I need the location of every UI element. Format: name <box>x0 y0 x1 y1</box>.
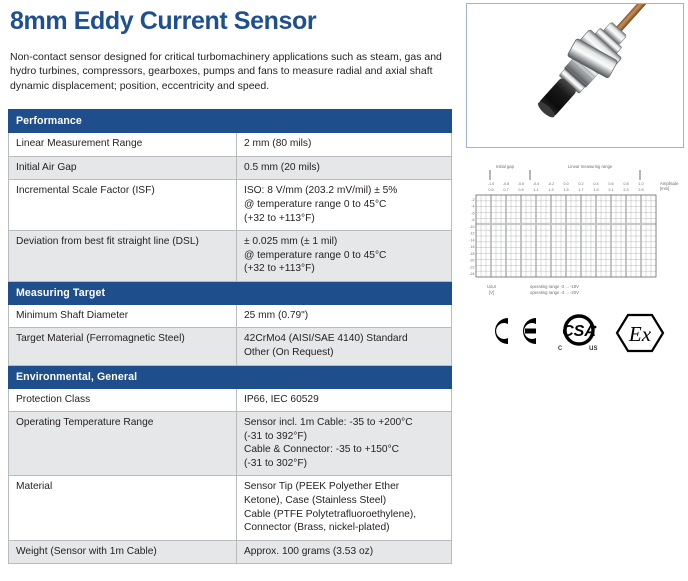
chart-label-linear-range: Linear measuring range <box>568 164 613 169</box>
chart-xtick-upper: -0.4 <box>533 182 540 186</box>
spec-value-cell: Sensor Tip (PEEK Polyether EtherKetone),… <box>237 476 452 540</box>
chart-annotation-0: operating range -2 ... -18V <box>530 284 579 289</box>
chart-xtick-lower: 0.7 <box>503 188 508 192</box>
chart-xtick-lower: 0.9 <box>518 188 523 192</box>
chart-xtick-lower: 2.5 <box>638 188 643 192</box>
table-row: Target Material (Ferromagnetic Steel)42C… <box>9 328 452 365</box>
chart-ytick: -24 <box>469 272 474 276</box>
chart-ytick: -20 <box>469 259 474 263</box>
spec-value-line: (-31 to 392°F) <box>244 430 444 444</box>
chart-xtick-lower: 1.9 <box>593 188 598 192</box>
spec-section-header: Measuring Target <box>9 281 452 304</box>
chart-xtick-lower: 1.7 <box>578 188 583 192</box>
spec-label-cell: Material <box>9 476 237 540</box>
characteristic-curve-chart: Initial gap Linear measuring range Ampli… <box>468 158 686 308</box>
spec-table-body: PerformanceLinear Measurement Range2 mm … <box>9 110 452 564</box>
chart-label-initial-gap: Initial gap <box>496 164 515 169</box>
spec-label-cell: Linear Measurement Range <box>9 133 237 157</box>
chart-annotation-1: operating range -4 ... -20V <box>530 290 579 295</box>
spec-value-line: IP66, IEC 60529 <box>244 393 444 407</box>
certification-marks: CSA c us Ex <box>480 312 680 360</box>
spec-value-line: (+32 to +113°F) <box>244 212 444 226</box>
spec-value-cell: 42CrMo4 (AISI/SAE 4140) StandardOther (O… <box>237 328 452 365</box>
spec-value-cell: 0.5 mm (20 mils) <box>237 156 452 180</box>
spec-value-line: Connector (Brass, nickel-plated) <box>244 521 444 535</box>
chart-xtick-upper: -0.8 <box>503 182 510 186</box>
svg-text:Ex: Ex <box>628 322 652 346</box>
specifications-table: PerformanceLinear Measurement Range2 mm … <box>8 109 452 564</box>
table-row: Deviation from best fit straight line (D… <box>9 231 452 282</box>
chart-xtick-upper: 0.6 <box>608 182 613 186</box>
spec-value-line: Other (On Request) <box>244 346 444 360</box>
spec-value-line: (-31 to 302°F) <box>244 457 444 471</box>
right-media-column: Initial gap Linear measuring range Ampli… <box>466 0 688 581</box>
intro-paragraph: Non-contact sensor designed for critical… <box>10 50 446 95</box>
chart-ytick: -16 <box>469 245 474 249</box>
spec-label-cell: Incremental Scale Factor (ISF) <box>9 180 237 231</box>
chart-xtick-lower: 2.3 <box>623 188 628 192</box>
spec-value-line: Sensor Tip (PEEK Polyether Ether <box>244 480 444 494</box>
chart-xtick-upper: -0.6 <box>518 182 525 186</box>
spec-value-line: 2 mm (80 mils) <box>244 137 444 151</box>
table-row: MaterialSensor Tip (PEEK Polyether Ether… <box>9 476 452 540</box>
table-row: Incremental Scale Factor (ISF)ISO: 8 V/m… <box>9 180 452 231</box>
spec-label-cell: Target Material (Ferromagnetic Steel) <box>9 328 237 365</box>
spec-value-line: 42CrMo4 (AISI/SAE 4140) Standard <box>244 332 444 346</box>
spec-value-line: ISO: 8 V/mm (203.2 mV/mil) ± 5% <box>244 184 444 198</box>
spec-value-line: 0.5 mm (20 mils) <box>244 161 444 175</box>
svg-text:c: c <box>558 343 562 352</box>
spec-value-cell: 25 mm (0.79") <box>237 304 452 328</box>
chart-xtick-upper: 0.0 <box>563 182 568 186</box>
spec-value-line: 25 mm (0.79") <box>244 309 444 323</box>
spec-value-cell: Sensor incl. 1m Cable: -35 to +200°C(-31… <box>237 412 452 476</box>
chart-xtick-upper: 0.4 <box>593 182 598 186</box>
chart-ytick: -14 <box>469 238 474 242</box>
product-photo-image <box>467 4 684 148</box>
chart-ytick: -10 <box>469 225 474 229</box>
spec-label-cell: Protection Class <box>9 388 237 412</box>
chart-ytick: -12 <box>469 232 474 236</box>
spec-value-line: (+32 to +113°F) <box>244 262 444 276</box>
chart-ytick: -22 <box>469 265 474 269</box>
spec-section-title: Measuring Target <box>9 281 452 304</box>
chart-ytick: -2 <box>471 198 474 202</box>
spec-value-cell: ± 0.025 mm (± 1 mil)@ temperature range … <box>237 231 452 282</box>
table-row: Linear Measurement Range2 mm (80 mils) <box>9 133 452 157</box>
spec-label-cell: Weight (Sensor with 1m Cable) <box>9 540 237 564</box>
spec-label-cell: Initial Air Gap <box>9 156 237 180</box>
table-row: Initial Air Gap0.5 mm (20 mils) <box>9 156 452 180</box>
spec-value-line: Sensor incl. 1m Cable: -35 to +200°C <box>244 416 444 430</box>
left-content-column: 8mm Eddy Current Sensor Non-contact sens… <box>8 0 454 564</box>
chart-xtick-upper: -0.2 <box>548 182 555 186</box>
spec-value-line: Cable (PTFE Polytetrafluoroethylene), <box>244 508 444 522</box>
chart-xtick-upper: 0.2 <box>578 182 583 186</box>
spec-section-title: Environmental, General <box>9 365 452 388</box>
spec-section-header: Performance <box>9 110 452 133</box>
chart-xtick-lower: 1.5 <box>563 188 568 192</box>
chart-label-uout: Uout <box>487 284 497 289</box>
spec-label-cell: Operating Temperature Range <box>9 412 237 476</box>
chart-xtick-lower: 2.1 <box>608 188 613 192</box>
chart-ytick: -4 <box>471 205 474 209</box>
spec-label-cell: Deviation from best fit straight line (D… <box>9 231 237 282</box>
svg-text:CSA: CSA <box>562 323 596 340</box>
table-row: Weight (Sensor with 1m Cable)Approx. 100… <box>9 540 452 564</box>
ce-mark-icon <box>484 314 542 348</box>
product-photo-panel <box>466 3 684 148</box>
chart-xtick-lower: 0.5 <box>488 188 493 192</box>
spec-value-line: ± 0.025 mm (± 1 mil) <box>244 235 444 249</box>
table-row: Minimum Shaft Diameter25 mm (0.79") <box>9 304 452 328</box>
spec-value-cell: 2 mm (80 mils) <box>237 133 452 157</box>
table-row: Operating Temperature RangeSensor incl. … <box>9 412 452 476</box>
atex-ex-mark-icon: Ex <box>615 312 665 354</box>
spec-value-cell: IP66, IEC 60529 <box>237 388 452 412</box>
csa-mark-icon: CSA c us <box>556 314 602 352</box>
page-title: 8mm Eddy Current Sensor <box>10 8 454 36</box>
chart-xtick-upper: -1.0 <box>488 182 495 186</box>
chart-xtick-lower: 1.1 <box>533 188 538 192</box>
chart-label-amplitude-unit: [mm] <box>660 186 669 191</box>
chart-xtick-lower: 1.3 <box>548 188 553 192</box>
spec-value-line: @ temperature range 0 to 45°C <box>244 249 444 263</box>
spec-section-title: Performance <box>9 110 452 133</box>
spec-value-cell: Approx. 100 grams (3.53 oz) <box>237 540 452 564</box>
spec-section-header: Environmental, General <box>9 365 452 388</box>
chart-xtick-upper: 0.8 <box>623 182 628 186</box>
spec-value-line: @ temperature range 0 to 45°C <box>244 198 444 212</box>
spec-label-cell: Minimum Shaft Diameter <box>9 304 237 328</box>
table-row: Protection ClassIP66, IEC 60529 <box>9 388 452 412</box>
chart-svg: Initial gap Linear measuring range Ampli… <box>468 158 686 308</box>
chart-label-uout-unit: [V] <box>489 290 494 295</box>
chart-xtick-upper: 1.0 <box>638 182 643 186</box>
svg-text:us: us <box>589 343 597 352</box>
chart-ytick: -18 <box>469 252 474 256</box>
spec-value-line: Cable & Connector: -35 to +150°C <box>244 443 444 457</box>
chart-ytick: -8 <box>471 218 474 222</box>
chart-ytick: -6 <box>471 211 474 215</box>
spec-value-line: Ketone), Case (Stainless Steel) <box>244 494 444 508</box>
spec-value-cell: ISO: 8 V/mm (203.2 mV/mil) ± 5%@ tempera… <box>237 180 452 231</box>
spec-value-line: Approx. 100 grams (3.53 oz) <box>244 545 444 559</box>
